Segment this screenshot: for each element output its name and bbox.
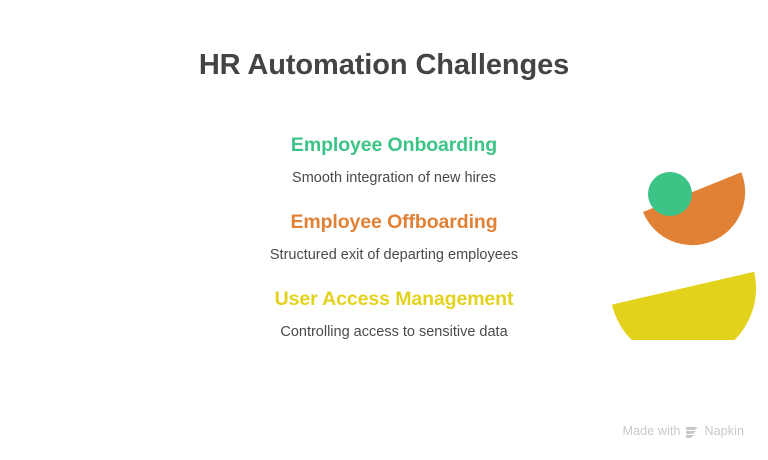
footer-prefix-label: Made with	[623, 424, 681, 438]
section-heading: Employee Offboarding	[246, 209, 542, 235]
abstract-shapes-decoration	[596, 160, 768, 340]
section-employee-offboarding: Employee Offboarding Structured exit of …	[246, 209, 542, 266]
section-heading: User Access Management	[246, 286, 542, 312]
green-circle-icon	[648, 172, 692, 216]
section-heading: Employee Onboarding	[246, 132, 542, 158]
page-title: HR Automation Challenges	[0, 49, 768, 82]
yellow-half-disc-icon	[612, 272, 768, 340]
sections-container: Employee Onboarding Smooth integration o…	[246, 132, 542, 343]
made-with-napkin-footer: Made with Napkin	[623, 424, 744, 438]
napkin-logo-icon	[685, 426, 699, 439]
footer-brand-label: Napkin	[704, 424, 744, 438]
section-description: Smooth integration of new hires	[246, 167, 542, 189]
slide-canvas: HR Automation Challenges Employee Onboar…	[0, 0, 768, 460]
section-employee-onboarding: Employee Onboarding Smooth integration o…	[246, 132, 542, 189]
section-user-access-management: User Access Management Controlling acces…	[246, 286, 542, 343]
section-description: Structured exit of departing employees	[246, 244, 542, 266]
section-description: Controlling access to sensitive data	[246, 321, 542, 343]
